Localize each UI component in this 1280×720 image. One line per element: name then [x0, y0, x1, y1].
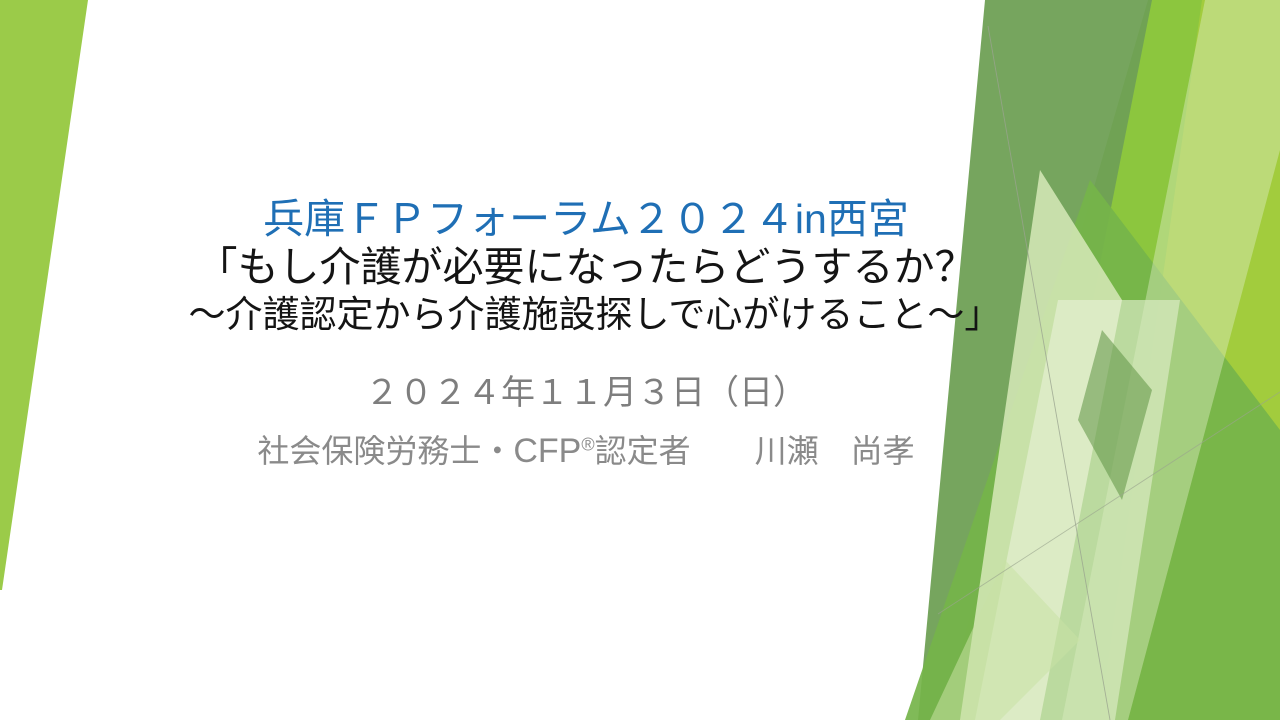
slide-subtitle: ２０２４年１１月３日（日） 社会保険労務士・CFP®認定者 川瀬 尚孝 — [96, 371, 1076, 473]
right-slab-yellow-green — [1040, 0, 1280, 720]
left-green-wedge — [0, 0, 88, 590]
registered-trademark-icon: ® — [581, 435, 594, 455]
event-date: ２０２４年１１月３日（日） — [96, 371, 1076, 415]
presenter-name-spacer — [691, 433, 755, 469]
title-line-3: ～介護認定から介護施設探しで心がけること～」 — [96, 292, 1076, 337]
presenter-credit: 社会保険労務士・CFP®認定者 川瀬 尚孝 — [96, 429, 1076, 473]
slide-title: 兵庫ＦＰフォーラム２０２４in西宮 「もし介護が必要になったらどうするか？ ～介… — [96, 196, 1076, 337]
right-accent-dark-wedge — [1078, 330, 1152, 500]
presenter-cfp-mark: CFP — [513, 432, 581, 470]
presenter-qualification-suffix: 認定者 — [595, 433, 691, 469]
title-slide: 兵庫ＦＰフォーラム２０２４in西宮 「もし介護が必要になったらどうするか？ ～介… — [0, 0, 1280, 720]
right-bottom-light-triangle — [930, 560, 1080, 720]
presenter-qualification-prefix: 社会保険労務士・ — [257, 433, 513, 469]
title-line-2: 「もし介護が必要になったらどうするか？ — [96, 243, 1076, 292]
title-line-1: 兵庫ＦＰフォーラム２０２４in西宮 — [96, 196, 1076, 243]
title-text-block: 兵庫ＦＰフォーラム２０２４in西宮 「もし介護が必要になったらどうするか？ ～介… — [96, 196, 1076, 473]
right-overlay-pale-cross — [1062, 0, 1280, 720]
presenter-name: 川瀬 尚孝 — [755, 433, 915, 469]
